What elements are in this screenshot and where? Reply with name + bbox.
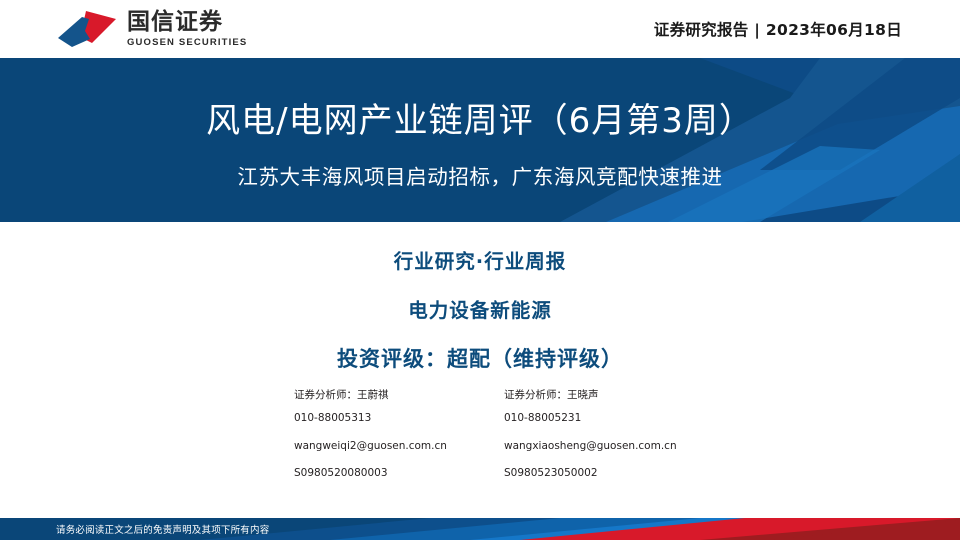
- analyst-license: S0980523050002: [504, 468, 714, 479]
- cover-body: 行业研究·行业周报 电力设备新能源 投资评级：超配（维持评级） 证券分析师：王蔚…: [0, 222, 960, 518]
- report-subtitle: 江苏大丰海风项目启动招标，广东海风竞配快速推进: [237, 160, 722, 190]
- analyst-entry: 证券分析师：王晓声 010-88005231 wangxiaosheng@guo…: [504, 390, 714, 479]
- brand-logo: 国信证券 GUOSEN SECURITIES: [56, 9, 247, 49]
- research-category: 行业研究·行业周报: [0, 245, 960, 274]
- brand-name-en: GUOSEN SECURITIES: [127, 38, 247, 48]
- banner-text-block: 风电/电网产业链周评（6月第3周） 江苏大丰海风项目启动招标，广东海风竞配快速推…: [0, 58, 960, 222]
- disclaimer-text: 请务必阅读正文之后的免责声明及其项下所有内容: [56, 518, 269, 540]
- analyst-list: 证券分析师：王蔚祺 010-88005313 wangweiqi2@guosen…: [294, 390, 714, 479]
- title-banner: 风电/电网产业链周评（6月第3周） 江苏大丰海风项目启动招标，广东海风竞配快速推…: [0, 58, 960, 222]
- brand-logo-text: 国信证券 GUOSEN SECURITIES: [127, 11, 247, 48]
- investment-rating: 投资评级：超配（维持评级）: [0, 343, 960, 373]
- analyst-phone: 010-88005313: [294, 413, 504, 424]
- analyst-entry: 证券分析师：王蔚祺 010-88005313 wangweiqi2@guosen…: [294, 390, 504, 479]
- industry-name: 电力设备新能源: [0, 294, 960, 323]
- report-cover-page: 国信证券 GUOSEN SECURITIES 证券研究报告 | 2023年06月…: [0, 0, 960, 540]
- analyst-license: S0980520080003: [294, 468, 504, 479]
- report-title: 风电/电网产业链周评（6月第3周）: [206, 93, 754, 142]
- analyst-email[interactable]: wangxiaosheng@guosen.com.cn: [504, 441, 714, 452]
- brand-name-cn: 国信证券: [127, 11, 247, 34]
- page-header: 国信证券 GUOSEN SECURITIES 证券研究报告 | 2023年06月…: [0, 0, 960, 58]
- analyst-name: 证券分析师：王晓声: [504, 390, 714, 401]
- analyst-email[interactable]: wangweiqi2@guosen.com.cn: [294, 441, 504, 452]
- guosen-diamond-logo-icon: [56, 9, 118, 49]
- report-meta-block: 行业研究·行业周报 电力设备新能源 投资评级：超配（维持评级）: [0, 245, 960, 373]
- page-footer: 请务必阅读正文之后的免责声明及其项下所有内容: [0, 518, 960, 540]
- analyst-name: 证券分析师：王蔚祺: [294, 390, 504, 401]
- report-type-date: 证券研究报告 | 2023年06月18日: [654, 18, 902, 40]
- analyst-phone: 010-88005231: [504, 413, 714, 424]
